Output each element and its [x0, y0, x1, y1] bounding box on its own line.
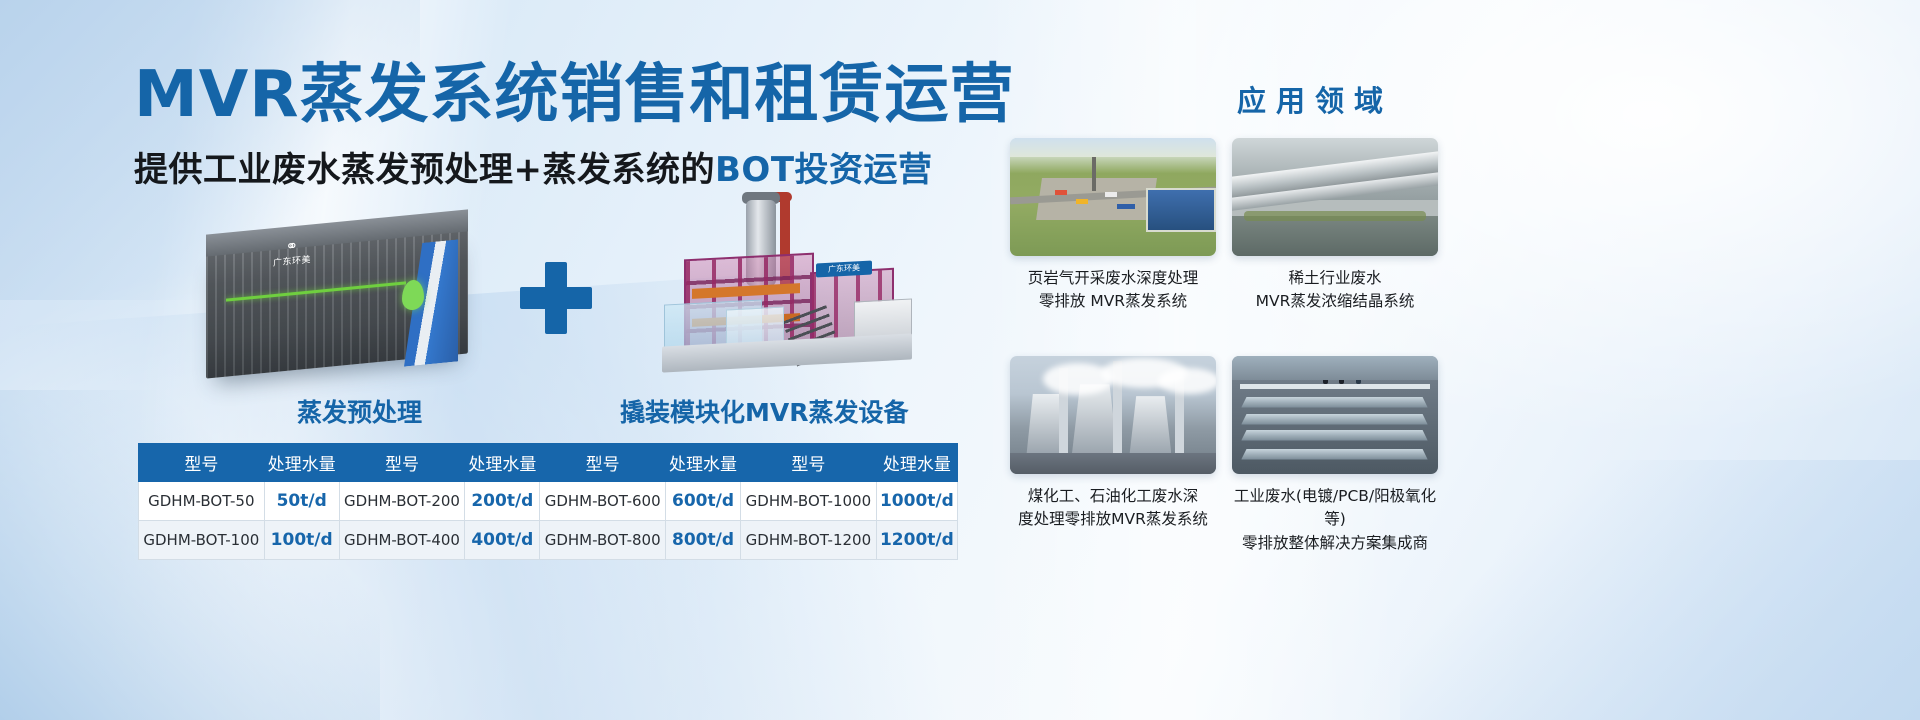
- table-header-cell: 处理水量: [876, 444, 957, 482]
- table-header-row: 型号 处理水量 型号 处理水量 型号 处理水量 型号 处理水量: [139, 444, 958, 482]
- caption-line-2: 零排放整体解决方案集成商: [1232, 532, 1438, 555]
- treatment-bay-shape: [1242, 397, 1429, 408]
- application-card: 煤化工、石油化工废水深 度处理零排放MVR蒸发系统: [1010, 356, 1216, 532]
- table-cell-model: GDHM-BOT-600: [540, 482, 666, 521]
- application-caption: 煤化工、石油化工废水深 度处理零排放MVR蒸发系统: [1010, 485, 1216, 532]
- retention-pond-shape: [1146, 188, 1216, 232]
- table-header-cell: 处理水量: [465, 444, 540, 482]
- caption-line-1: 工业废水(电镀/PCB/阳极氧化等): [1232, 485, 1438, 532]
- caption-line-1: 页岩气开采废水深度处理: [1010, 267, 1216, 290]
- caption-line-2: 度处理零排放MVR蒸发系统: [1010, 508, 1216, 531]
- table-cell-model: GDHM-BOT-400: [339, 521, 465, 560]
- application-thumbnail-coal-chemical: [1010, 356, 1216, 474]
- table-row: GDHM-BOT-50 50t/d GDHM-BOT-200 200t/d GD…: [139, 482, 958, 521]
- coal-chemical-plant-illustration: [1010, 356, 1216, 474]
- specification-table: 型号 处理水量 型号 处理水量 型号 处理水量 型号 处理水量 GDHM-BOT…: [138, 443, 958, 560]
- table-header-cell: 型号: [540, 444, 666, 482]
- table-cell-capacity: 800t/d: [666, 521, 741, 560]
- application-card: 稀土行业废水 MVR蒸发浓缩结晶系统: [1232, 138, 1438, 314]
- table-cell-capacity: 1200t/d: [876, 521, 957, 560]
- container-brand-logo: ⚭ 广东环美: [260, 237, 324, 269]
- application-thumbnail-industrial-wastewater: [1232, 356, 1438, 474]
- sky-shape: [1010, 138, 1216, 157]
- table-row: GDHM-BOT-100 100t/d GDHM-BOT-400 400t/d …: [139, 521, 958, 560]
- banner-subtitle: 提供工业废水蒸发预处理+蒸发系统的BOT投资运营: [134, 152, 974, 189]
- application-card: 工业废水(电镀/PCB/阳极氧化等) 零排放整体解决方案集成商: [1232, 356, 1438, 555]
- cooling-tower-shape: [1129, 396, 1171, 455]
- promo-banner: MVR蒸发系统销售和租赁运营 提供工业废水蒸发预处理+蒸发系统的BOT投资运营 …: [0, 0, 1920, 720]
- table-cell-model: GDHM-BOT-100: [139, 521, 265, 560]
- truck-shape: [1076, 199, 1088, 204]
- table-header-cell: 处理水量: [264, 444, 339, 482]
- applications-section-title: 应用领域: [1150, 78, 1480, 120]
- table-cell-capacity: 600t/d: [666, 482, 741, 521]
- application-card: 页岩气开采废水深度处理 零排放 MVR蒸发系统: [1010, 138, 1216, 314]
- product-caption-pretreatment: 蒸发预处理: [297, 393, 422, 429]
- table-cell-model: GDHM-BOT-50: [139, 482, 265, 521]
- table-header-cell: 型号: [741, 444, 877, 482]
- algae-shape: [1244, 211, 1425, 221]
- table-cell-capacity: 400t/d: [465, 521, 540, 560]
- treatment-bay-shape: [1242, 430, 1429, 441]
- left-content-column: MVR蒸发系统销售和租赁运营 提供工业废水蒸发预处理+蒸发系统的BOT投资运营 …: [0, 0, 990, 720]
- table-header-cell: 型号: [339, 444, 465, 482]
- treatment-bay-shape: [1242, 413, 1429, 424]
- table-cell-capacity: 50t/d: [264, 482, 339, 521]
- plus-icon: [520, 262, 592, 334]
- evaporation-pretreatment-unit-image: ⚭ 广东环美: [196, 226, 496, 386]
- table-cell-model: GDHM-BOT-1000: [741, 482, 877, 521]
- application-caption: 稀土行业废水 MVR蒸发浓缩结晶系统: [1232, 267, 1438, 314]
- caption-line-1: 煤化工、石油化工废水深: [1010, 485, 1216, 508]
- banner-subtitle-plain: 提供工业废水蒸发预处理+蒸发系统的: [134, 150, 715, 190]
- steam-plume-shape: [1158, 368, 1216, 394]
- skid-brand-badge: 广东环美: [816, 261, 872, 278]
- right-content-column: 应用领域 页岩气开采: [990, 0, 1920, 720]
- treatment-bay-shape: [1242, 449, 1429, 460]
- banner-title: MVR蒸发系统销售和租赁运营: [134, 62, 964, 129]
- caption-line-2: 零排放 MVR蒸发系统: [1010, 290, 1216, 313]
- table-header-cell: 处理水量: [666, 444, 741, 482]
- table-cell-capacity: 100t/d: [264, 521, 339, 560]
- caption-line-1: 稀土行业废水: [1232, 267, 1438, 290]
- banner-subtitle-highlight: BOT投资运营: [715, 150, 933, 190]
- skid-mounted-mvr-unit-image: 广东环美: [640, 190, 940, 390]
- ground-shape: [1010, 453, 1216, 474]
- sky-shape: [1232, 356, 1438, 380]
- application-thumbnail-shale-gas: [1010, 138, 1216, 256]
- table-cell-model: GDHM-BOT-200: [339, 482, 465, 521]
- table-cell-model: GDHM-BOT-800: [540, 521, 666, 560]
- table-cell-capacity: 1000t/d: [876, 482, 957, 521]
- truck-shape: [1055, 190, 1067, 195]
- industrial-wastewater-tanks-illustration: [1232, 356, 1438, 474]
- application-caption: 工业废水(电镀/PCB/阳极氧化等) 零排放整体解决方案集成商: [1232, 485, 1438, 555]
- table-cell-model: GDHM-BOT-1200: [741, 521, 877, 560]
- walkway-rail-shape: [1240, 384, 1430, 389]
- rare-earth-pipeline-illustration: [1232, 138, 1438, 256]
- shale-gas-field-illustration: [1010, 138, 1216, 256]
- application-caption: 页岩气开采废水深度处理 零排放 MVR蒸发系统: [1010, 267, 1216, 314]
- truck-shape: [1105, 192, 1117, 197]
- application-thumbnail-rare-earth: [1232, 138, 1438, 256]
- truck-shape: [1117, 204, 1135, 209]
- table-cell-capacity: 200t/d: [465, 482, 540, 521]
- drilling-rig-shape: [1092, 157, 1096, 191]
- table-header-cell: 型号: [139, 444, 265, 482]
- caption-line-2: MVR蒸发浓缩结晶系统: [1232, 290, 1438, 313]
- product-caption-skid-mvr: 撬装模块化MVR蒸发设备: [620, 393, 908, 429]
